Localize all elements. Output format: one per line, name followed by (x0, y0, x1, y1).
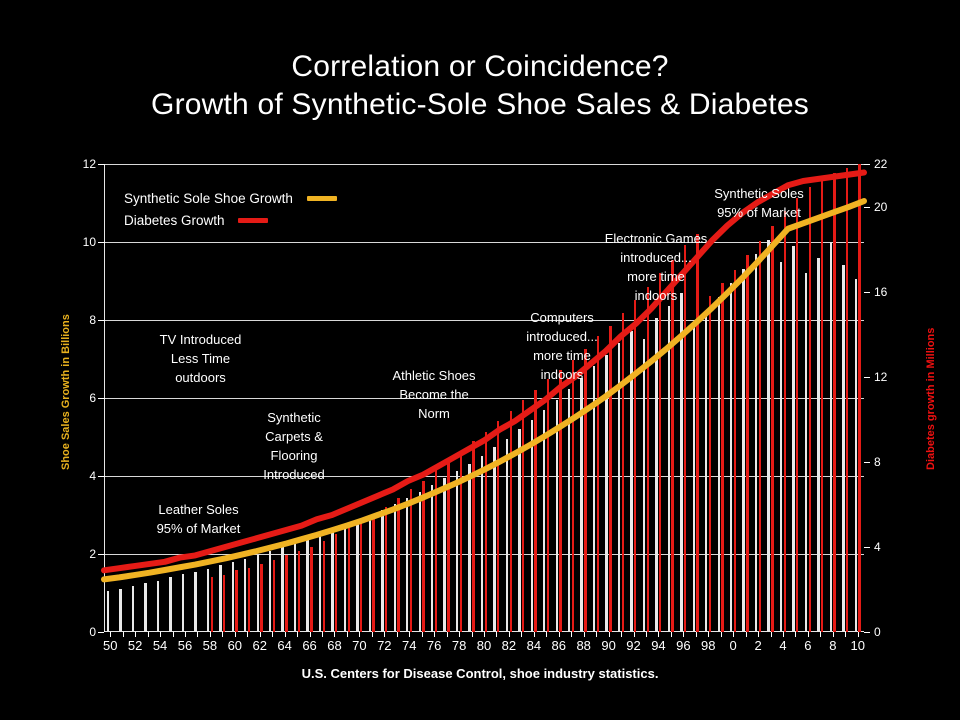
x-tick-label: 58 (203, 638, 217, 653)
legend-label-diabetes: Diabetes Growth (124, 213, 225, 228)
annotation-leather-soles: Leather Soles 95% of Market (141, 500, 256, 538)
x-tick-mark (833, 632, 834, 637)
x-tick-mark (696, 632, 697, 637)
x-tick-label: 76 (427, 638, 441, 653)
x-tick-mark (235, 632, 236, 637)
x-tick-mark (820, 632, 821, 637)
x-tick-mark (708, 632, 709, 637)
y-tick-mark-right (864, 292, 870, 293)
x-tick-label: 66 (302, 638, 316, 653)
x-tick-label: 80 (477, 638, 491, 653)
x-tick-mark (297, 632, 298, 637)
x-tick-label: 0 (730, 638, 737, 653)
x-tick-mark (422, 632, 423, 637)
x-tick-mark (771, 632, 772, 637)
chart-slide: Correlation or Coincidence? Growth of Sy… (0, 0, 960, 720)
x-tick-mark (596, 632, 597, 637)
x-tick-mark (197, 632, 198, 637)
x-tick-mark (285, 632, 286, 637)
x-tick-label: 68 (327, 638, 341, 653)
annotation-electronic-games: Electronic Games introduced... more time… (591, 229, 721, 305)
x-tick-mark (185, 632, 186, 637)
x-tick-mark (496, 632, 497, 637)
x-tick-mark (334, 632, 335, 637)
x-tick-mark (845, 632, 846, 637)
y-axis-left-label: Shoe Sales Growth in Billions (60, 314, 72, 470)
x-tick-mark (634, 632, 635, 637)
x-tick-label: 86 (552, 638, 566, 653)
x-tick-mark (509, 632, 510, 637)
legend-swatch-shoe (307, 196, 337, 201)
legend-label-shoe: Synthetic Sole Shoe Growth (124, 191, 293, 206)
x-tick-mark (447, 632, 448, 637)
x-tick-mark (247, 632, 248, 637)
x-tick-label: 74 (402, 638, 416, 653)
x-tick-mark (148, 632, 149, 637)
x-tick-mark (733, 632, 734, 637)
x-tick-label: 52 (128, 638, 142, 653)
x-tick-mark (472, 632, 473, 637)
x-tick-label: 94 (651, 638, 665, 653)
x-tick-mark (310, 632, 311, 637)
annotation-tv-introduced: TV Introduced Less Time outdoors (143, 330, 258, 387)
x-tick-label: 92 (626, 638, 640, 653)
y-axis-right: 04812162022 (864, 164, 904, 632)
x-tick-mark (571, 632, 572, 637)
x-tick-mark (621, 632, 622, 637)
x-tick-mark (222, 632, 223, 637)
x-tick-mark (210, 632, 211, 637)
x-tick-mark (559, 632, 560, 637)
x-tick-mark (546, 632, 547, 637)
x-tick-mark (584, 632, 585, 637)
x-tick-mark (534, 632, 535, 637)
title-line-2: Growth of Synthetic-Sole Shoe Sales & Di… (0, 86, 960, 124)
x-tick-label: 70 (352, 638, 366, 653)
x-tick-mark (260, 632, 261, 637)
x-tick-label: 8 (829, 638, 836, 653)
x-axis-caption: U.S. Centers for Disease Control, shoe i… (0, 666, 960, 681)
legend-swatch-diabetes (238, 218, 268, 223)
x-tick-mark (795, 632, 796, 637)
x-tick-mark (683, 632, 684, 637)
x-tick-label: 54 (153, 638, 167, 653)
x-tick-label: 60 (228, 638, 242, 653)
annotation-computers-introduced: Computers introduced... more time indoor… (508, 308, 616, 384)
x-tick-label: 2 (754, 638, 761, 653)
x-tick-mark (721, 632, 722, 637)
x-tick-mark (646, 632, 647, 637)
x-tick-mark (272, 632, 273, 637)
x-tick-mark (671, 632, 672, 637)
x-tick-mark (173, 632, 174, 637)
y-tick-mark-right (864, 632, 870, 633)
x-tick-mark (808, 632, 809, 637)
x-tick-label: 90 (601, 638, 615, 653)
legend-item-diabetes: Diabetes Growth (124, 212, 337, 234)
x-tick-mark (758, 632, 759, 637)
x-tick-mark (372, 632, 373, 637)
x-tick-label: 84 (527, 638, 541, 653)
annotation-synthetic-soles: Synthetic Soles 95% of Market (695, 184, 823, 222)
x-tick-mark (484, 632, 485, 637)
legend-item-shoe: Synthetic Sole Shoe Growth (124, 190, 337, 212)
x-tick-mark (384, 632, 385, 637)
x-tick-mark (783, 632, 784, 637)
x-tick-label: 50 (103, 638, 117, 653)
x-tick-label: 10 (851, 638, 865, 653)
x-tick-label: 82 (502, 638, 516, 653)
x-tick-mark (609, 632, 610, 637)
x-tick-label: 98 (701, 638, 715, 653)
title-line-1: Correlation or Coincidence? (0, 48, 960, 86)
x-tick-mark (658, 632, 659, 637)
x-tick-label: 72 (377, 638, 391, 653)
y-tick-mark-right (864, 377, 870, 378)
y-tick-mark-right (864, 164, 870, 165)
x-tick-mark (459, 632, 460, 637)
chart-legend: Synthetic Sole Shoe Growth Diabetes Grow… (124, 190, 337, 234)
x-axis: 5052545658606264666870727476788082848688… (104, 632, 864, 658)
x-tick-mark (347, 632, 348, 637)
x-tick-mark (123, 632, 124, 637)
y-tick-mark-right (864, 207, 870, 208)
x-tick-mark (135, 632, 136, 637)
x-tick-mark (434, 632, 435, 637)
x-tick-mark (359, 632, 360, 637)
x-tick-label: 96 (676, 638, 690, 653)
x-tick-mark (409, 632, 410, 637)
x-tick-label: 64 (277, 638, 291, 653)
x-tick-mark (160, 632, 161, 637)
x-tick-label: 62 (253, 638, 267, 653)
annotation-athletic-shoes: Athletic Shoes Become the Norm (378, 366, 490, 423)
x-tick-label: 78 (452, 638, 466, 653)
x-tick-mark (521, 632, 522, 637)
x-tick-label: 88 (576, 638, 590, 653)
y-tick-mark-right (864, 462, 870, 463)
x-tick-mark (322, 632, 323, 637)
y-tick-mark-right (864, 547, 870, 548)
page-title: Correlation or Coincidence? Growth of Sy… (0, 48, 960, 124)
x-tick-label: 6 (804, 638, 811, 653)
x-tick-label: 4 (779, 638, 786, 653)
x-tick-mark (746, 632, 747, 637)
x-tick-label: 56 (178, 638, 192, 653)
x-tick-mark (110, 632, 111, 637)
y-axis-right-label: Diabetes growth in Millions (925, 328, 937, 470)
x-tick-mark (397, 632, 398, 637)
x-tick-mark (858, 632, 859, 637)
annotation-synthetic-carpets: Synthetic Carpets & Flooring Introduced (244, 408, 344, 484)
